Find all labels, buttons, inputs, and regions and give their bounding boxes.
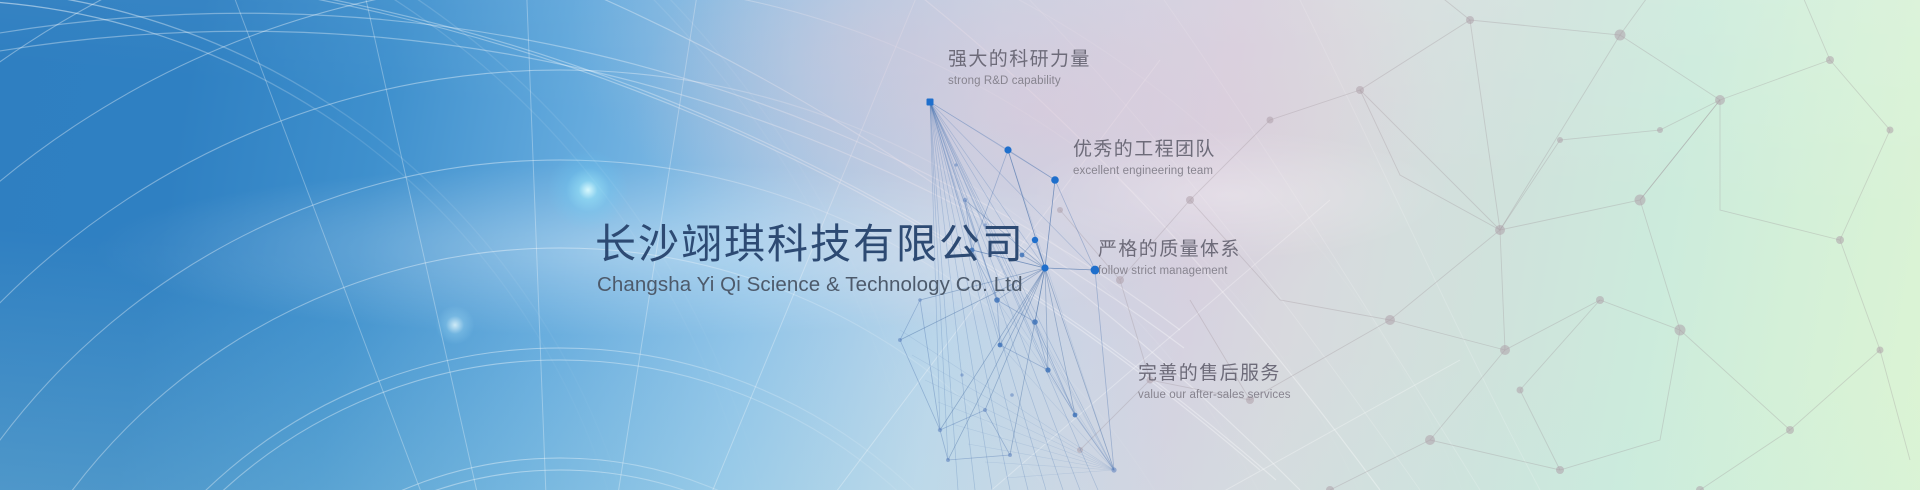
feature-label-service: 完善的售后服务 value our after-sales services	[1138, 362, 1291, 401]
feature-cn-engineering: 优秀的工程团队	[1073, 138, 1216, 162]
company-banner: 长沙翊琪科技有限公司 Changsha Yi Qi Science & Tech…	[0, 0, 1920, 490]
feature-en-engineering: excellent engineering team	[1073, 165, 1216, 177]
feature-label-engineering: 优秀的工程团队 excellent engineering team	[1073, 138, 1216, 177]
feature-cn-rd: 强大的科研力量	[948, 48, 1091, 72]
feature-label-rd: 强大的科研力量 strong R&D capability	[948, 48, 1091, 87]
company-name-cn: 长沙翊琪科技有限公司	[595, 222, 1135, 266]
feature-label-quality: 严格的质量体系 follow strict management	[1098, 238, 1241, 277]
feature-en-service: value our after-sales services	[1138, 389, 1291, 401]
feature-cn-service: 完善的售后服务	[1138, 362, 1291, 386]
feature-en-quality: follow strict management	[1098, 265, 1241, 277]
feature-en-rd: strong R&D capability	[948, 75, 1091, 87]
company-title-block: 长沙翊琪科技有限公司 Changsha Yi Qi Science & Tech…	[595, 222, 1135, 297]
company-name-en: Changsha Yi Qi Science & Technology Co. …	[597, 273, 1135, 297]
feature-cn-quality: 严格的质量体系	[1098, 238, 1241, 262]
